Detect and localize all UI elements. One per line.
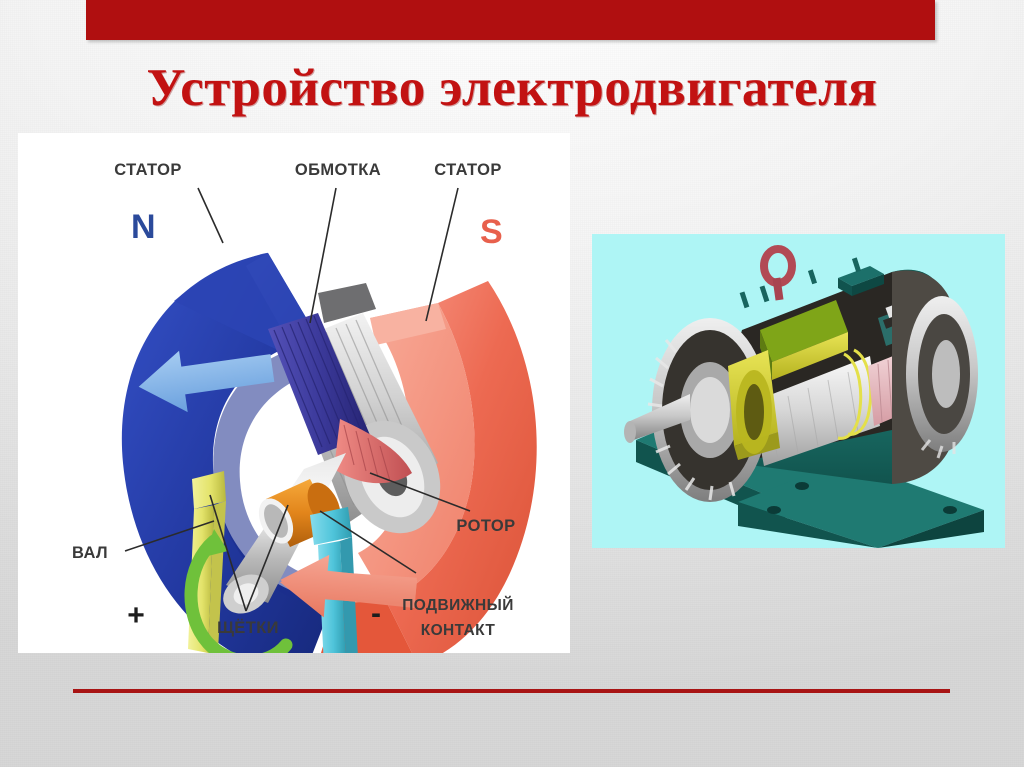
label-positive: + <box>127 599 145 632</box>
motor-3d-panel <box>592 234 1005 548</box>
label-moving-contact-line2: КОНТАКТ <box>421 622 496 639</box>
label-shaft: ВАЛ <box>72 544 108 562</box>
label-pole-south: S <box>480 213 503 251</box>
label-negative: - <box>371 597 381 630</box>
motor-3d-illustration <box>592 234 1005 548</box>
label-pole-north: N <box>131 208 156 246</box>
label-winding: ОБМОТКА <box>295 161 381 179</box>
label-stator-right: СТАТОР <box>434 161 502 179</box>
lifting-eye <box>764 249 792 300</box>
motor-schematic-panel: СТАТОР ОБМОТКА СТАТОР N S ВАЛ ЩЁТКИ РОТО… <box>18 133 570 653</box>
top-red-banner <box>86 0 935 40</box>
motor-end-bell-right <box>892 270 978 484</box>
motor-schematic-illustration: СТАТОР ОБМОТКА СТАТОР N S ВАЛ ЩЁТКИ РОТО… <box>18 133 570 653</box>
bottom-red-rule <box>73 689 950 693</box>
label-stator-left: СТАТОР <box>114 161 182 179</box>
slide-root: Устройство электродвигателя <box>0 0 1024 767</box>
label-moving-contact-line1: ПОДВИЖНЫЙ <box>402 596 514 614</box>
label-brushes: ЩЁТКИ <box>217 619 279 637</box>
label-rotor: РОТОР <box>456 517 515 535</box>
page-title: Устройство электродвигателя <box>0 58 1024 118</box>
